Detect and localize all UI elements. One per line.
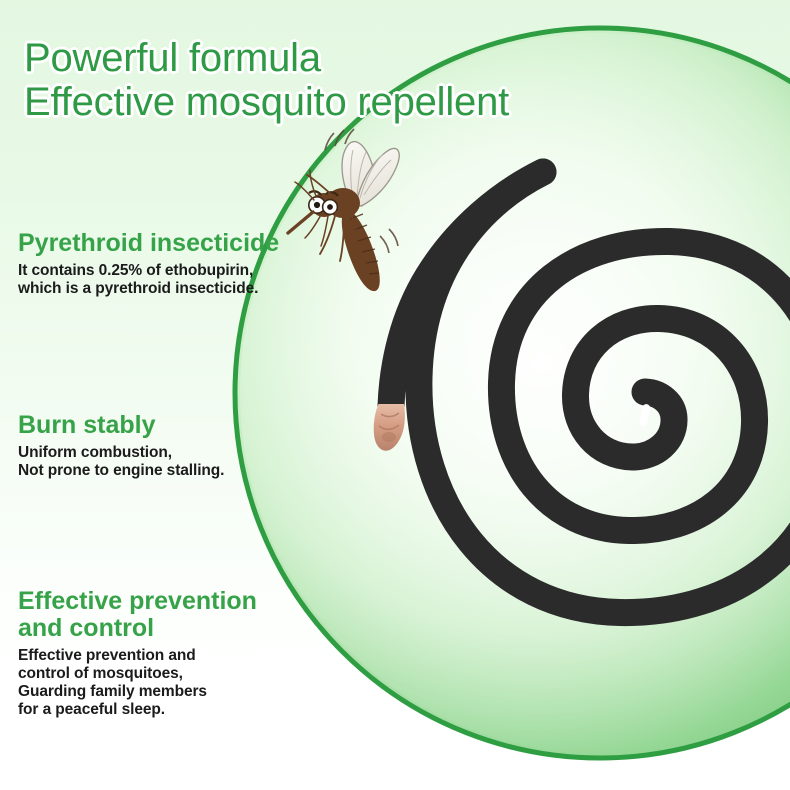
- feature-heading: Effective prevention and control: [18, 588, 257, 642]
- coil-burning-tip: [374, 404, 405, 451]
- feature-heading: Burn stably: [18, 412, 224, 439]
- feature-body: Effective prevention and control of mosq…: [18, 647, 257, 720]
- mosquito-antennae: [295, 170, 328, 246]
- cartoon-mosquito: [288, 129, 399, 291]
- mosquito-wings: [342, 142, 399, 206]
- mosquito-legs: [307, 175, 357, 261]
- mosquito-eyes: [309, 191, 338, 214]
- green-disc: [235, 28, 790, 758]
- product-infographic-poster: Powerful formula Effective mosquito repe…: [0, 0, 790, 790]
- mosquito-thorax: [326, 188, 360, 218]
- feature-heading: Pyrethroid insecticide: [18, 230, 279, 257]
- feature-block-burn-stably: Burn stably Uniform combustion, Not pron…: [18, 412, 224, 480]
- title-line-1: Powerful formula: [24, 38, 509, 80]
- page-title: Powerful formula Effective mosquito repe…: [24, 38, 509, 123]
- mosquito-proboscis: [288, 212, 313, 233]
- feature-body: It contains 0.25% of ethobupirin, which …: [18, 262, 279, 298]
- feature-block-pyrethroid-insecticide: Pyrethroid insecticide It contains 0.25%…: [18, 230, 279, 298]
- mosquito-head: [311, 193, 337, 217]
- feature-block-effective-prevention-and-control: Effective prevention and control Effecti…: [18, 588, 257, 720]
- motion-lines-icon: [325, 129, 398, 253]
- mosquito-abdomen: [342, 208, 380, 291]
- mosquito-coil-spiral: [374, 172, 790, 613]
- title-line-2: Effective mosquito repellent: [24, 82, 509, 124]
- feature-body: Uniform combustion, Not prone to engine …: [18, 444, 224, 480]
- coil-center-slot: [639, 403, 651, 426]
